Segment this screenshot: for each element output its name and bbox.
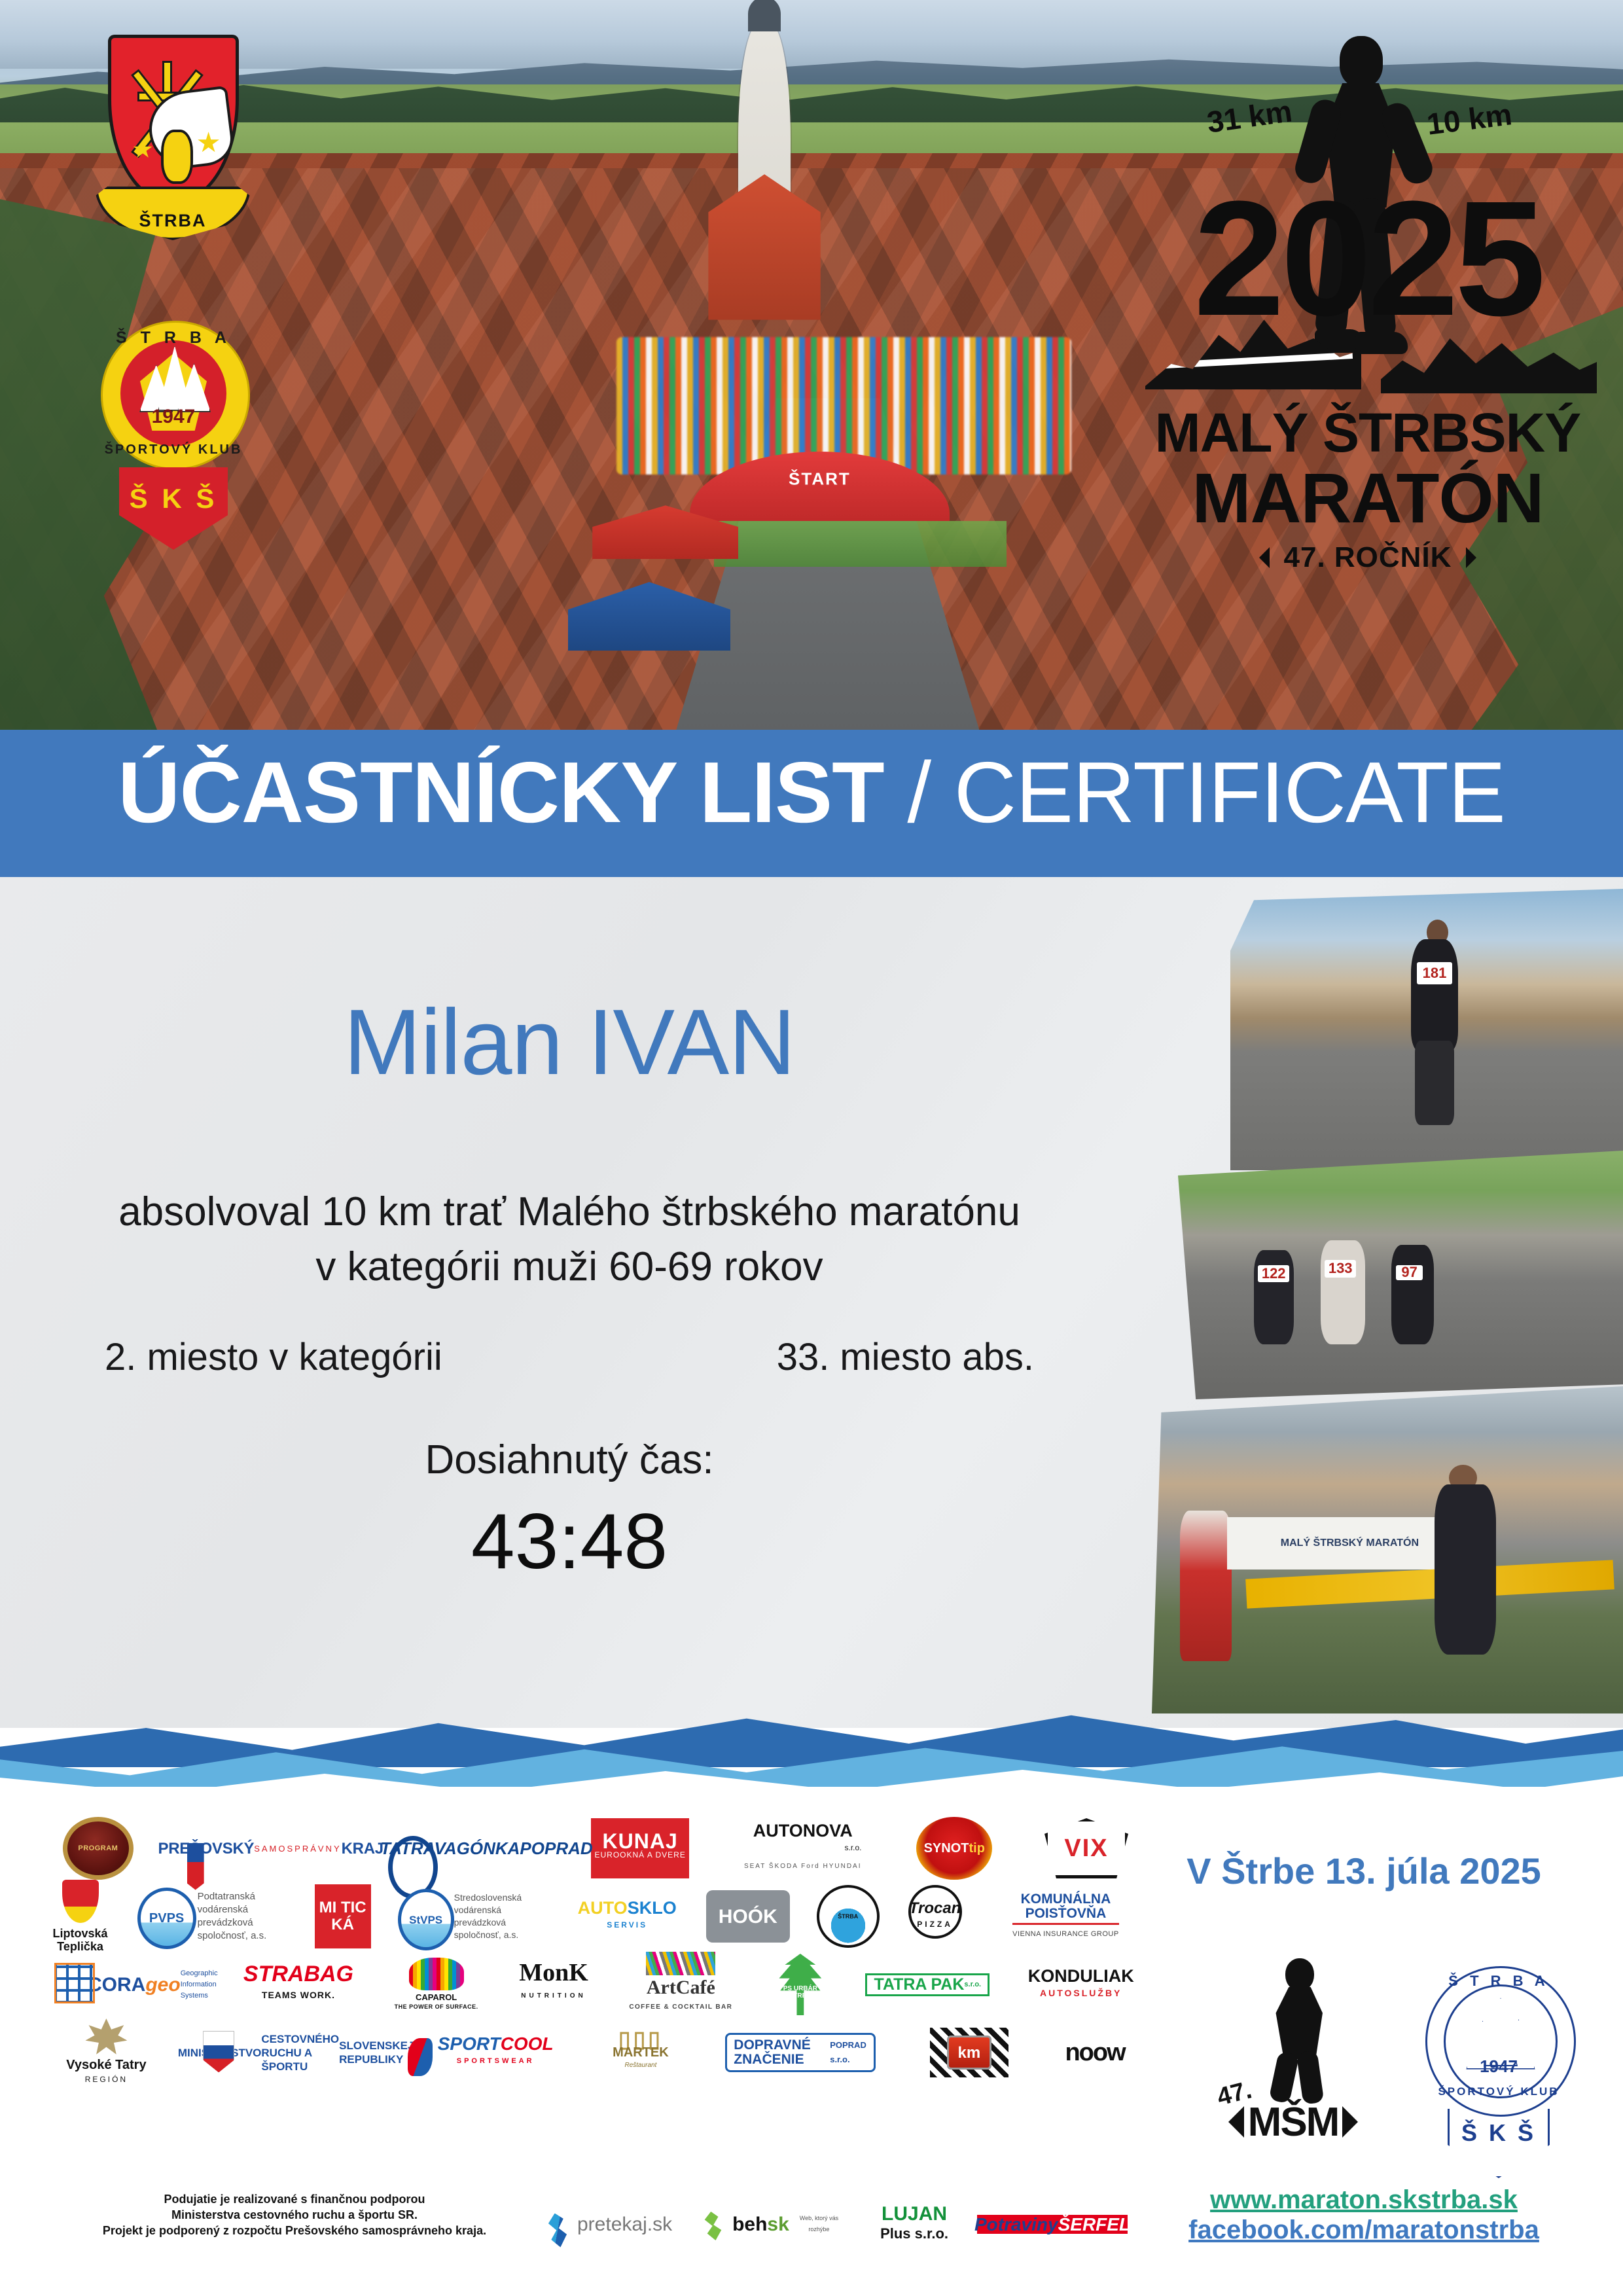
- sponsor-label: pretekaj.sk: [577, 2219, 672, 2230]
- sponsor-row-2: Liptovská Teplička Podtatranská vodárens…: [39, 1882, 1152, 1950]
- sponsor-martek: ▯▯▯ MARTEK Reštaurant: [610, 2032, 671, 2073]
- church-tower: [738, 23, 790, 314]
- stamp-year: 1947: [1414, 2056, 1584, 2077]
- sponsor-autosklo-servis: AUTOSKLO SERVIS: [575, 1898, 679, 1935]
- runner-body: [1411, 939, 1458, 1052]
- race-bib: 133: [1325, 1260, 1356, 1278]
- sponsor-tatravagonka-poprad: TATRAVAGÓNKA POPRAD: [388, 1839, 539, 1859]
- sponsor-pvps: Podtatranská vodárenská prevádzková spol…: [137, 1889, 288, 1944]
- sponsor-sublabel: ŠERFEL: [1058, 2219, 1130, 2230]
- sponsor-potraviny-serfel: Potraviny ŠERFEL: [977, 2215, 1128, 2234]
- sponsor-vix: VIX: [1044, 1818, 1128, 1878]
- sponsor-sublabel: s.r.o.: [964, 1979, 981, 1990]
- description-line-2: v kategórii muži 60-69 rokov: [0, 1240, 1139, 1295]
- sponsor-label: KONDULIAK: [1028, 1967, 1134, 1984]
- start-arch-label: ŠTART: [789, 469, 851, 490]
- photo-runners-group: 122 133 97: [1178, 1151, 1623, 1399]
- stamp-abbrev-label: Š K Š: [1461, 2119, 1536, 2147]
- website-link[interactable]: www.maraton.skstrba.sk: [1135, 2185, 1593, 2215]
- sponsor-noow: noow: [1062, 2046, 1127, 2060]
- club-abbrev-label: Š K Š: [130, 483, 218, 514]
- sponsor-polnohospodarske-druzstvo: ŠTRBA: [817, 1885, 880, 1948]
- left-arrow-icon: [1213, 2106, 1244, 2138]
- sponsor-sublabel: TEAMS WORK.: [262, 1984, 335, 2005]
- disclaimer-line-2: Ministerstva cestovného ruchu a športu S…: [46, 2207, 543, 2223]
- finish-time-value: 43:48: [0, 1499, 1139, 1584]
- msm-runner-icon: [1260, 1958, 1339, 2096]
- sponsor-label: TATRA PAK: [874, 1979, 964, 1990]
- sponsor-label: VIX: [1064, 1843, 1108, 1854]
- sponsor-label: km: [947, 2036, 991, 2070]
- description-line-1: absolvoval 10 km trať Malého štrbského m…: [0, 1185, 1139, 1240]
- page-title: ÚČASTNÍCKY LIST / CERTIFICATE: [0, 744, 1623, 842]
- left-arrow-icon: [1249, 547, 1270, 568]
- event-edition-label: 47. ROČNÍK: [1284, 541, 1452, 574]
- disclaimer-line-1: Podujatie je realizované s finančnou pod…: [46, 2191, 543, 2207]
- sponsor-sublabel: POPRAD: [520, 1840, 592, 1857]
- sports-club-crest: Š T R B A 1947 ŠPORTOVÝ KLUB Š K Š: [92, 314, 255, 576]
- right-arrow-icon: [1342, 2106, 1374, 2138]
- sponsor-sublabel: Plus s.r.o.: [880, 2224, 948, 2244]
- sponsor-label: LUJAN: [882, 2204, 947, 2224]
- sponsor-sublabel: Geographic Information Systems: [181, 1968, 218, 2001]
- race-bib: 181: [1417, 962, 1452, 984]
- certificate-page: ŠTART ŠTRBA Š T R B A 1947 ŠPORTOVÝ: [0, 0, 1623, 2296]
- sponsor-sublabel: REGIÓN: [85, 2072, 128, 2087]
- race-bib: 97: [1396, 1265, 1423, 1280]
- sponsor-caparol: CAPAROL THE POWER OF SURFACE.: [392, 1956, 481, 2013]
- facebook-link[interactable]: facebook.com/maratonstrba: [1135, 2215, 1593, 2245]
- club-name-top: Š T R B A: [92, 329, 255, 348]
- sponsor-sublabel: CESTOVNÉHO RUCHU A ŠPORTU: [261, 2032, 339, 2073]
- distance-short-label: 10 km: [1425, 96, 1514, 141]
- sponsor-sublabel: COFFEE & COCKTAIL BAR: [629, 1998, 732, 2017]
- sponsor-komunalna-poistovna: KOMUNÁLNA POISŤOVŇA VIENNA INSURANCE GRO…: [990, 1891, 1141, 1943]
- event-title-line1: MALÝ ŠTRBSKÝ: [1139, 403, 1597, 463]
- sponsor-autonova: AUTONOVA s.r.o. SEAT ŠKODA Ford HYUNDAI: [741, 1821, 865, 1876]
- finisher-body: [1435, 1484, 1496, 1655]
- sponsor-label: MI TIC KÁ: [317, 1899, 368, 1933]
- page-title-separator: /: [884, 744, 954, 840]
- sponsor-label: SYNOT: [924, 1843, 969, 1854]
- sponsor-sublabel: THE POWER OF SURFACE.: [395, 2002, 478, 2011]
- msm-logo: 47. MŠM: [1211, 1958, 1374, 2174]
- sponsor-label: ArtCafé: [647, 1978, 715, 1998]
- sponsor-sublabel: Podtatranská vodárenská prevádzková spol…: [198, 1890, 285, 1943]
- crest-icon: [62, 1880, 99, 1923]
- runner-a: [1254, 1250, 1294, 1344]
- sponsor-label: KOMUNÁLNA POISŤOVŇA: [993, 1892, 1138, 1921]
- stamp-abbrev-shield: Š K Š: [1448, 2109, 1550, 2178]
- club-abbrev-banner: Š K Š: [119, 467, 228, 550]
- stamp-top-label: Š T R B A: [1414, 1973, 1584, 1990]
- shield-shape: [108, 35, 239, 205]
- sponsor-label: DOPRAVNÉ ZNAČENIE: [734, 2038, 830, 2067]
- sponsor-sublabel: Reštaurant: [624, 2059, 656, 2072]
- sponsor-sublabel: PIZZA: [917, 1916, 953, 1932]
- club-name-bottom: ŠPORTOVÝ KLUB: [92, 442, 255, 457]
- sponsor-artcafe: ArtCafé COFFEE & COCKTAIL BAR: [626, 1950, 735, 2018]
- sponsor-label: MARTEK: [613, 2046, 669, 2059]
- color-bars-icon: [646, 1952, 715, 1975]
- sponsor-label: TATRAVAGÓNKA: [380, 1840, 520, 1857]
- sponsor-label: CORA: [88, 1979, 145, 1990]
- absolute-place: 33. miesto abs.: [777, 1335, 1034, 1379]
- elephant-icon: [409, 1958, 464, 1990]
- sponsor-km-autocentrum: km: [930, 2028, 1008, 2077]
- sponsor-label: CAPAROL: [416, 1993, 457, 2002]
- sponsor-sportcool: SPORTCOOL SPORTSWEAR: [408, 2034, 556, 2071]
- event-title-line2: MARATÓN: [1139, 460, 1597, 536]
- sponsor-sublabel: s.r.o.: [844, 1839, 861, 1856]
- msm-abbrev-block: MŠM: [1220, 2083, 1366, 2161]
- cutlery-icon: ▯▯▯: [618, 2033, 663, 2046]
- sponsor-stvps: Stredoslovenská vodárenská prevádzková s…: [398, 1890, 548, 1943]
- sponsor-label: KUNAJ: [603, 1836, 678, 1847]
- sponsor-strabag: STRABAG TEAMS WORK.: [241, 1962, 356, 2007]
- sponsor-row-3: CORAgeo Geographic Information Systems S…: [39, 1950, 1152, 2018]
- sponsor-sublabel: NUTRITION: [521, 1984, 586, 2008]
- sks-stamp-logo: Š T R B A 1947 ŠPORTOVÝ KLUB Š K Š: [1414, 1957, 1584, 2173]
- funding-disclaimer: Podujatie je realizované s finančnou pod…: [46, 2191, 543, 2238]
- sponsor-sublabel: Teplička: [57, 1940, 103, 1953]
- placement-row: 2. miesto v kategórii 33. miesto abs.: [0, 1335, 1139, 1379]
- mountain-peaks-icon: [135, 346, 212, 414]
- sponsor-sublabel: tip: [969, 1843, 985, 1854]
- folk-costume-spectator: [1180, 1511, 1232, 1661]
- sponsor-label: MINISTERSTVO: [178, 2046, 262, 2060]
- sponsor-label: Liptovská: [53, 1927, 108, 1940]
- sponsor-sublabel: EUROOKNÁ A DVERE: [594, 1850, 685, 1861]
- sponsor-sublabel: SPORTSWEAR: [457, 2053, 535, 2070]
- sponsor-trocan-pizza: Trocan PIZZA: [906, 1899, 964, 1933]
- sponsor-row-5: pretekaj.sk behsk Web, ktorý vás rozhýbe…: [543, 2203, 1152, 2245]
- sponsor-miticka: MI TIC KÁ: [315, 1884, 371, 1948]
- sponsor-sublabel: SAMOSPRÁVNY: [254, 1843, 341, 1854]
- sponsor-vysoke-tatry: Vysoké Tatry REGIÓN: [63, 2017, 149, 2088]
- stamp-bottom-label: ŠPORTOVÝ KLUB: [1414, 2085, 1584, 2098]
- sponsor-sublabel: ŠTRBA: [789, 1992, 811, 2000]
- sponsor-label: SPORTCOOL: [438, 2036, 554, 2053]
- sponsor-sublabel: AUTOSLUŽBY: [1040, 1984, 1122, 2001]
- three-stars-icon: [131, 130, 223, 166]
- sponsor-label-2: geo: [145, 1979, 180, 1990]
- runner-legs: [1415, 1041, 1454, 1125]
- distance-long-label: 31 km: [1205, 93, 1294, 140]
- event-edition: 47. ROČNÍK: [1139, 541, 1597, 574]
- sponsor-ministerstvo: MINISTERSTVO CESTOVNÉHO RUCHU A ŠPORTU S…: [203, 2031, 353, 2075]
- photo-finish-line: MALÝ ŠTRBSKÝ MARATÓN: [1152, 1386, 1623, 1713]
- sponsor-konduliak: KONDULIAK AUTOSLUŽBY: [1026, 1966, 1137, 2003]
- sponsor-label: MonK: [519, 1961, 588, 1984]
- sponsor-sublabel2: SLOVENSKEJ REPUBLIKY: [339, 2039, 414, 2066]
- sponsor-grid: PROGRAM PREŠOVSKÝ SAMOSPRÁVNY KRAJ TATRA…: [39, 1814, 1152, 2087]
- marathon-event-logo: 2025 31 km 10 km MALÝ ŠTRBSKÝ MARATÓN 47…: [1139, 36, 1597, 612]
- sponsor-synot-tip: SYNOTtip: [916, 1817, 992, 1880]
- edelweiss-icon: [85, 2018, 127, 2055]
- sponsor-tatrapak: TATRA PAKs.r.o.: [865, 1973, 990, 1996]
- sponsor-dopravne-znacenie: DOPRAVNÉ ZNAČENIE POPRAD s.r.o.: [725, 2033, 876, 2072]
- page-title-sk: ÚČASTNÍCKY LIST: [118, 744, 884, 840]
- sponsor-liptovska-teplicka: Liptovská Teplička: [50, 1878, 111, 1954]
- sponsor-sublabel: POPRAD s.r.o.: [830, 2038, 867, 2067]
- disclaimer-line-3: Projekt je podporený z rozpočtu Prešovsk…: [46, 2223, 543, 2238]
- sponsor-label: PS URBÁR: [783, 1985, 817, 1992]
- sponsor-presovsky-kraj: PREŠOVSKÝ SAMOSPRÁVNY KRAJ: [186, 1842, 336, 1856]
- category-place: 2. miesto v kategórii: [105, 1335, 442, 1379]
- runner-b: [1321, 1240, 1365, 1345]
- certificate-description: absolvoval 10 km trať Malého štrbského m…: [0, 1185, 1139, 1295]
- sponsor-label: PROGRAM: [78, 1843, 118, 1854]
- race-bib: 122: [1258, 1265, 1289, 1283]
- issue-date: V Štrbe 13. júla 2025: [1135, 1850, 1593, 1892]
- sponsor-row-4: Vysoké Tatry REGIÓN MINISTERSTVO CESTOVN…: [39, 2018, 1152, 2087]
- crest-ribbon-label: ŠTRBA: [139, 211, 207, 238]
- sponsor-label: Trocan: [909, 1901, 961, 1916]
- sponsor-label: STRABAG: [243, 1964, 353, 1984]
- crest-ribbon: ŠTRBA: [95, 187, 251, 240]
- club-founded-year: 1947: [92, 406, 255, 428]
- sponsor-label: AUTOSKLO: [578, 1899, 677, 1916]
- sponsor-sublabel: Stredoslovenská vodárenská prevádzková s…: [454, 1892, 546, 1941]
- runner-c: [1391, 1245, 1434, 1344]
- sponsor-label: PREŠOVSKÝ: [158, 1843, 255, 1854]
- strba-town-crest: ŠTRBA: [95, 29, 245, 245]
- sponsor-row-1: PROGRAM PREŠOVSKÝ SAMOSPRÁVNY KRAJ TATRA…: [39, 1814, 1152, 1882]
- finish-time-label: Dosiahnutý čas:: [0, 1437, 1139, 1483]
- sponsor-program-trencin: PROGRAM: [63, 1817, 134, 1880]
- sponsor-pretekaj-sk: pretekaj.sk: [543, 2217, 675, 2231]
- grass-strip: [714, 521, 1006, 567]
- right-arrow-icon: [1466, 547, 1487, 568]
- sponsor-corageo: CORAgeo Geographic Information Systems: [54, 1967, 205, 2003]
- mountain-range-icon: [1145, 298, 1597, 403]
- sponsor-label: ŠTRBA: [838, 1913, 858, 1920]
- sponsor-beh-sk: behsk Web, ktorý vás rozhýbe: [701, 2212, 851, 2236]
- sponsor-label-2: sk: [767, 2219, 789, 2230]
- sponsor-sublabel2: KRAJ: [342, 1843, 383, 1854]
- sponsor-lujan-plus: LUJAN Plus s.r.o.: [878, 2203, 951, 2245]
- sponsor-label: AUTONOVA: [753, 1822, 853, 1839]
- contact-links: www.maraton.skstrba.sk facebook.com/mara…: [1135, 2185, 1593, 2245]
- sponsor-label: Potraviny: [974, 2219, 1058, 2230]
- sponsor-sublabel: SERVIS: [607, 1916, 647, 1933]
- sponsor-monk: MonK NUTRITION: [516, 1960, 591, 2009]
- sponsor-label: Vysoké Tatry: [66, 2058, 146, 2072]
- sponsor-brandlist: SEAT ŠKODA Ford HYUNDAI: [744, 1858, 862, 1875]
- sponsor-ps-urbar-strba: PS URBÁR ŠTRBA: [771, 1954, 830, 2015]
- sponsor-kunaj: KUNAJ EUROOKNÁ A DVERE: [591, 1818, 689, 1878]
- race-photo-collage: 181 122 133 97 MALÝ ŠTRBSKÝ MARATÓN: [1139, 889, 1623, 1733]
- page-title-en: CERTIFICATE: [954, 744, 1505, 840]
- msm-abbrev-label: MŠM: [1248, 2099, 1339, 2145]
- sponsor-sublabel: Web, ktorý vás rozhýbe: [789, 2213, 849, 2235]
- sponsor-label: HOÓK: [719, 1911, 777, 1922]
- sponsor-hook: HOÓK: [706, 1890, 790, 1943]
- sponsor-label: beh: [732, 2219, 767, 2230]
- participant-name: Milan IVAN: [0, 994, 1139, 1092]
- sponsor-sublabel: VIENNA INSURANCE GROUP: [1012, 1923, 1119, 1941]
- sponsor-label: noow: [1065, 2047, 1124, 2058]
- photo-female-finisher: 181: [1230, 889, 1623, 1170]
